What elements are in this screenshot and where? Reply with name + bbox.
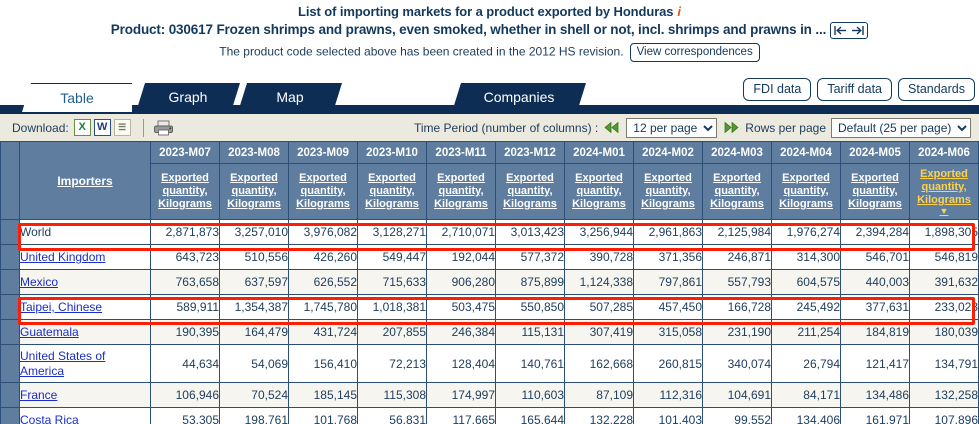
measure-line-b: quantity, (162, 185, 207, 197)
cell-value: 391,632 (910, 270, 979, 295)
measure-line-a: Exported (782, 172, 830, 184)
tab-companies[interactable]: Companies (452, 83, 586, 112)
tab-graph[interactable]: Graph (136, 83, 240, 112)
period-header-10: 2024-M05 (841, 142, 910, 164)
tab-map[interactable]: Map (238, 83, 342, 112)
cell-value: 44,634 (151, 345, 220, 383)
table-row: Taipei, Chinese 589,911 1,354,387 1,745,… (1, 295, 979, 320)
row-country-cell: France (20, 383, 151, 408)
measure-line-a: Exported (920, 168, 968, 180)
product-nav-group (830, 22, 868, 39)
cell-value: 715,633 (358, 270, 427, 295)
cell-value: 2,710,071 (427, 220, 496, 245)
cell-value: 1,354,387 (220, 295, 289, 320)
pagination-controls: Time Period (number of columns) : 12 per… (414, 118, 971, 138)
cell-value: 3,013,423 (496, 220, 565, 245)
cell-value: 106,946 (151, 383, 220, 408)
rows-per-page-select[interactable]: Default (25 per page) (831, 118, 971, 138)
cell-value: 185,145 (289, 383, 358, 408)
cell-value: 54,069 (220, 345, 289, 383)
cell-value: 260,815 (634, 345, 703, 383)
cell-value: 549,447 (358, 245, 427, 270)
rows-per-page-label: Rows per page (745, 121, 826, 135)
row-gutter (1, 270, 20, 295)
measure-line-b: quantity, (300, 185, 345, 197)
cell-value: 211,254 (772, 320, 841, 345)
period-header-1: 2023-M08 (220, 142, 289, 164)
cell-value: 56,831 (358, 408, 427, 424)
page-title: List of importing markets for a product … (0, 4, 979, 19)
measure-line-c: Kilograms (710, 198, 764, 210)
country-link[interactable]: Mexico (20, 275, 58, 289)
columns-per-page-select[interactable]: 12 per page (626, 118, 717, 138)
measure-line-c: Kilograms (572, 198, 626, 210)
measure-line-b: quantity, (438, 185, 483, 197)
measure-line-c: Kilograms (503, 198, 557, 210)
measure-header-3[interactable]: Exportedquantity,Kilograms (358, 164, 427, 220)
row-gutter (1, 295, 20, 320)
country-link[interactable]: France (20, 388, 57, 402)
cell-value: 134,406 (772, 408, 841, 424)
measure-line-a: Exported (713, 172, 761, 184)
measure-line-a: Exported (575, 172, 623, 184)
measure-line-b: quantity, (714, 185, 759, 197)
view-correspondences-button[interactable]: View correspondences (630, 43, 760, 62)
data-table-container: Importers 2023-M07 2023-M08 2023-M09 202… (0, 141, 979, 424)
cell-value: 161,971 (841, 408, 910, 424)
cell-value: 315,058 (634, 320, 703, 345)
country-link[interactable]: Costa Rica (20, 413, 79, 424)
country-link[interactable]: United Kingdom (20, 250, 105, 264)
arrow-right-to-bar-icon[interactable] (849, 23, 866, 38)
cell-value: 70,524 (220, 383, 289, 408)
gutter-corner (1, 142, 20, 220)
tabbar: Table Graph Map Companies (0, 83, 979, 113)
period-header-11: 2024-M06 (910, 142, 979, 164)
measure-line-a: Exported (851, 172, 899, 184)
measure-header-6[interactable]: Exportedquantity,Kilograms (565, 164, 634, 220)
period-header-7: 2024-M02 (634, 142, 703, 164)
cell-value: 1,976,274 (772, 220, 841, 245)
cell-value: 546,819 (910, 245, 979, 270)
period-header-4: 2023-M11 (427, 142, 496, 164)
table-row: Costa Rica 53,305 198,761 101,768 56,831… (1, 408, 979, 424)
measure-line-c: Kilograms (917, 194, 971, 206)
arrow-left-to-bar-icon[interactable] (832, 23, 849, 38)
cell-value: 53,305 (151, 408, 220, 424)
cell-value: 626,552 (289, 270, 358, 295)
cell-value: 2,394,284 (841, 220, 910, 245)
text-download-icon[interactable]: ☰ (114, 119, 131, 136)
row-country-cell: Taipei, Chinese (20, 295, 151, 320)
cell-value: 3,257,010 (220, 220, 289, 245)
cell-value: 192,044 (427, 245, 496, 270)
cell-value: 371,356 (634, 245, 703, 270)
table-toolbar: Download: X W ☰ Time Period (number of c… (0, 113, 979, 141)
cell-value: 1,898,305 (910, 220, 979, 245)
cell-value: 510,556 (220, 245, 289, 270)
row-gutter (1, 383, 20, 408)
cell-value: 426,260 (289, 245, 358, 270)
measure-line-b: quantity, (369, 185, 414, 197)
row-country-cell: United Kingdom (20, 245, 151, 270)
cell-value: 340,074 (703, 345, 772, 383)
country-link[interactable]: United States of America (20, 349, 105, 378)
product-line: Product: 030617 Frozen shrimps and prawn… (0, 22, 979, 39)
country-link[interactable]: Taipei, Chinese (20, 300, 102, 314)
cell-value: 87,109 (565, 383, 634, 408)
measure-header-4[interactable]: Exportedquantity,Kilograms (427, 164, 496, 220)
measure-header-5[interactable]: Exportedquantity,Kilograms (496, 164, 565, 220)
cell-value: 115,131 (496, 320, 565, 345)
cell-value: 190,395 (151, 320, 220, 345)
period-header-6: 2024-M01 (565, 142, 634, 164)
download-label: Download: (12, 121, 69, 135)
trade-data-table: Importers 2023-M07 2023-M08 2023-M09 202… (0, 141, 979, 424)
period-header-row: Importers 2023-M07 2023-M08 2023-M09 202… (1, 142, 979, 164)
row-country-cell: United States of America (20, 345, 151, 383)
table-head: Importers 2023-M07 2023-M08 2023-M09 202… (1, 142, 979, 220)
row-gutter (1, 345, 20, 383)
cell-value: 906,280 (427, 270, 496, 295)
row-gutter (1, 320, 20, 345)
measure-header-2[interactable]: Exportedquantity,Kilograms (289, 164, 358, 220)
revision-note-row: The product code selected above has been… (0, 43, 979, 62)
cell-value: 104,691 (703, 383, 772, 408)
cell-value: 26,794 (772, 345, 841, 383)
double-chevron-right-icon[interactable] (722, 121, 740, 134)
cell-value: 3,128,271 (358, 220, 427, 245)
cell-value: 557,793 (703, 270, 772, 295)
excel-download-icon[interactable]: X (74, 119, 91, 136)
printer-icon[interactable] (153, 120, 175, 136)
country-link[interactable]: Guatemala (20, 325, 79, 339)
measure-line-b: quantity, (507, 185, 552, 197)
cell-value: 246,384 (427, 320, 496, 345)
cell-value: 431,724 (289, 320, 358, 345)
page-header: List of importing markets for a product … (0, 0, 979, 62)
cell-value: 112,316 (634, 383, 703, 408)
importers-header-label: Importers (57, 174, 112, 188)
measure-line-c: Kilograms (158, 198, 212, 210)
cell-value: 233,023 (910, 295, 979, 320)
row-country-cell: Mexico (20, 270, 151, 295)
row-gutter (1, 220, 20, 245)
cell-value: 550,850 (496, 295, 565, 320)
measure-line-b: quantity, (852, 185, 897, 197)
cell-value: 763,658 (151, 270, 220, 295)
info-icon[interactable]: i (677, 4, 681, 19)
importers-header[interactable]: Importers (20, 142, 151, 220)
measure-line-c: Kilograms (296, 198, 350, 210)
measure-header-9[interactable]: Exportedquantity,Kilograms (772, 164, 841, 220)
country-label: World (20, 225, 51, 239)
table-row: United States of America 44,634 54,069 1… (1, 345, 979, 383)
measure-line-b: quantity, (576, 185, 621, 197)
cell-value: 314,300 (772, 245, 841, 270)
measure-line-c: Kilograms (365, 198, 419, 210)
revision-note: The product code selected above has been… (219, 45, 623, 59)
cell-value: 797,861 (634, 270, 703, 295)
cell-value: 457,450 (634, 295, 703, 320)
measure-line-a: Exported (644, 172, 692, 184)
cell-value: 115,308 (358, 383, 427, 408)
cell-value: 3,256,944 (565, 220, 634, 245)
cell-value: 180,039 (910, 320, 979, 345)
cell-value: 546,701 (841, 245, 910, 270)
cell-value: 134,486 (841, 383, 910, 408)
measure-header-0[interactable]: Exportedquantity,Kilograms (151, 164, 220, 220)
cell-value: 207,855 (358, 320, 427, 345)
measure-header-8[interactable]: Exportedquantity,Kilograms (703, 164, 772, 220)
measure-line-a: Exported (437, 172, 485, 184)
cell-value: 132,228 (565, 408, 634, 424)
period-header-0: 2023-M07 (151, 142, 220, 164)
cell-value: 643,723 (151, 245, 220, 270)
measure-line-a: Exported (230, 172, 278, 184)
measure-header-10[interactable]: Exportedquantity,Kilograms (841, 164, 910, 220)
cell-value: 121,417 (841, 345, 910, 383)
cell-value: 164,479 (220, 320, 289, 345)
cell-value: 165,644 (496, 408, 565, 424)
product-line-text: Product: 030617 Frozen shrimps and prawn… (111, 22, 826, 37)
cell-value: 128,404 (427, 345, 496, 383)
cell-value: 3,976,082 (289, 220, 358, 245)
measure-line-a: Exported (161, 172, 209, 184)
period-header-2: 2023-M09 (289, 142, 358, 164)
cell-value: 377,631 (841, 295, 910, 320)
period-header-9: 2024-M04 (772, 142, 841, 164)
period-header-5: 2023-M12 (496, 142, 565, 164)
cell-value: 101,768 (289, 408, 358, 424)
tab-table[interactable]: Table (22, 83, 132, 112)
row-country-cell: World (20, 220, 151, 245)
row-gutter (1, 408, 20, 424)
cell-value: 577,372 (496, 245, 565, 270)
measure-line-a: Exported (368, 172, 416, 184)
measure-line-b: quantity, (783, 185, 828, 197)
measure-line-c: Kilograms (641, 198, 695, 210)
row-gutter (1, 245, 20, 270)
page-title-text: List of importing markets for a product … (298, 4, 673, 19)
word-download-icon[interactable]: W (94, 119, 111, 136)
cell-value: 589,911 (151, 295, 220, 320)
cell-value: 107,896 (910, 408, 979, 424)
measure-line-a: Exported (506, 172, 554, 184)
cell-value: 156,410 (289, 345, 358, 383)
double-chevron-left-icon[interactable] (603, 121, 621, 134)
period-header-8: 2024-M03 (703, 142, 772, 164)
measure-line-a: Exported (299, 172, 347, 184)
measure-line-b: quantity, (231, 185, 276, 197)
cell-value: 245,492 (772, 295, 841, 320)
cell-value: 117,665 (427, 408, 496, 424)
cell-value: 507,285 (565, 295, 634, 320)
measure-line-b: quantity, (921, 181, 966, 193)
table-row: France 106,946 70,524 185,145 115,308 17… (1, 383, 979, 408)
cell-value: 637,597 (220, 270, 289, 295)
cell-value: 110,603 (496, 383, 565, 408)
cell-value: 72,213 (358, 345, 427, 383)
cell-value: 140,761 (496, 345, 565, 383)
cell-value: 99,552 (703, 408, 772, 424)
measure-line-c: Kilograms (434, 198, 488, 210)
cell-value: 2,125,984 (703, 220, 772, 245)
cell-value: 134,791 (910, 345, 979, 383)
cell-value: 875,899 (496, 270, 565, 295)
cell-value: 162,668 (565, 345, 634, 383)
cell-value: 198,761 (220, 408, 289, 424)
table-body: World 2,871,873 3,257,010 3,976,082 3,12… (1, 220, 979, 424)
cell-value: 604,575 (772, 270, 841, 295)
table-row: Mexico 763,658 637,597 626,552 715,633 9… (1, 270, 979, 295)
toolbar-divider (143, 119, 144, 137)
cell-value: 166,728 (703, 295, 772, 320)
cell-value: 440,003 (841, 270, 910, 295)
time-period-label: Time Period (number of columns) : (414, 121, 598, 135)
cell-value: 307,419 (565, 320, 634, 345)
table-row: Guatemala 190,395 164,479 431,724 207,85… (1, 320, 979, 345)
cell-value: 174,997 (427, 383, 496, 408)
period-header-3: 2023-M10 (358, 142, 427, 164)
cell-value: 246,871 (703, 245, 772, 270)
measure-header-11-sorted[interactable]: Exportedquantity,Kilograms▼ (910, 164, 979, 220)
cell-value: 390,728 (565, 245, 634, 270)
cell-value: 101,403 (634, 408, 703, 424)
cell-value: 2,961,863 (634, 220, 703, 245)
measure-line-c: Kilograms (779, 198, 833, 210)
table-row: World 2,871,873 3,257,010 3,976,082 3,12… (1, 220, 979, 245)
cell-value: 503,475 (427, 295, 496, 320)
sort-descending-icon: ▼ (910, 207, 978, 215)
measure-line-c: Kilograms (227, 198, 281, 210)
measure-line-b: quantity, (645, 185, 690, 197)
cell-value: 1,124,338 (565, 270, 634, 295)
cell-value: 1,745,780 (289, 295, 358, 320)
measure-line-c: Kilograms (848, 198, 902, 210)
cell-value: 184,819 (841, 320, 910, 345)
measure-header-7[interactable]: Exportedquantity,Kilograms (634, 164, 703, 220)
cell-value: 231,190 (703, 320, 772, 345)
cell-value: 84,171 (772, 383, 841, 408)
row-country-cell: Costa Rica (20, 408, 151, 424)
table-row: United Kingdom 643,723 510,556 426,260 5… (1, 245, 979, 270)
cell-value: 132,258 (910, 383, 979, 408)
cell-value: 2,871,873 (151, 220, 220, 245)
measure-header-1[interactable]: Exportedquantity,Kilograms (220, 164, 289, 220)
cell-value: 1,018,381 (358, 295, 427, 320)
row-country-cell: Guatemala (20, 320, 151, 345)
